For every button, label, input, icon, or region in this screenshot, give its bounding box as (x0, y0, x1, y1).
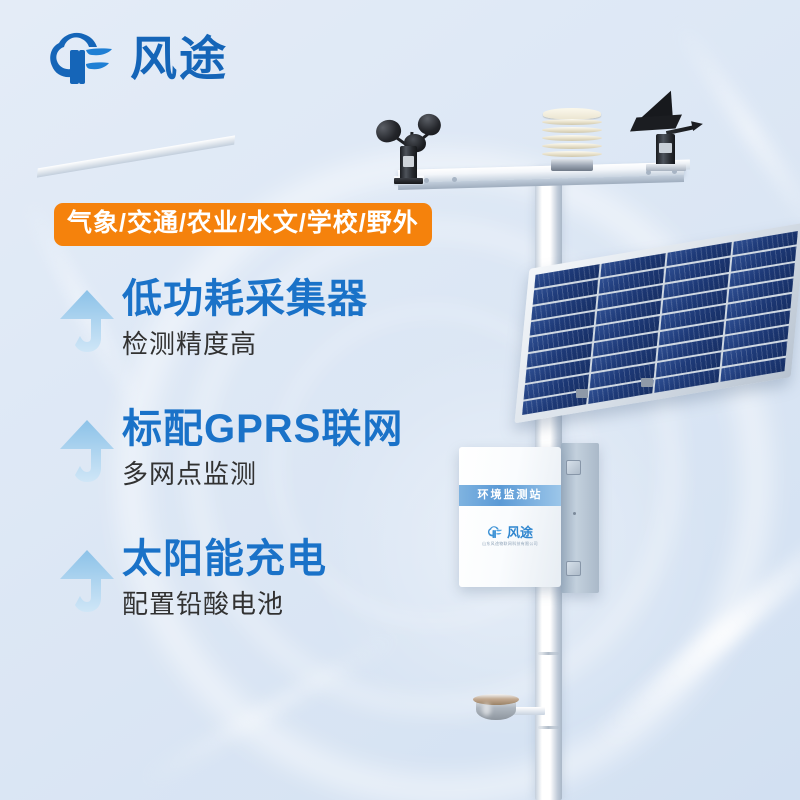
radiation-shield-sensor (539, 108, 605, 172)
enclosure-band-label: 环境监测站 (478, 490, 543, 501)
wind-vane-nose (691, 119, 704, 131)
weather-station-product-image: 环境监测站 风途 山东风途物联网科技有限公司 (0, 0, 800, 800)
anemometer-sensor (374, 104, 460, 182)
radiation-shield-plate (542, 127, 602, 133)
wind-vane-sensor (620, 92, 702, 174)
enclosure-logo: 风途 山东风途物联网科技有限公司 (459, 525, 561, 546)
solar-panel-cells (522, 231, 798, 415)
product-poster: 风途 气象/交通/农业/水文/学校/野外 低功耗采集器 检测精度高 (0, 0, 800, 800)
enclosure-logo-row: 风途 (459, 525, 561, 539)
solar-panel-bracket (576, 389, 588, 398)
enclosure-company-label: 山东风途物联网科技有限公司 (459, 542, 561, 546)
radiation-shield-foot (551, 159, 593, 171)
radiation-shield-cap (543, 108, 601, 119)
solar-panel-bracket (641, 378, 653, 387)
rain-gauge-rim (473, 694, 519, 705)
enclosure-latch (566, 561, 581, 576)
solar-panel-rail (37, 135, 235, 177)
rain-gauge-highlight (482, 703, 491, 716)
radiation-shield-plate (542, 143, 602, 149)
radiation-shield-plate (542, 135, 602, 141)
anemometer-label (403, 156, 414, 167)
enclosure-screw (573, 512, 576, 515)
wind-vane-base (646, 164, 686, 171)
enclosure-band: 环境监测站 (459, 485, 561, 506)
enclosure-box: 环境监测站 风途 山东风途物联网科技有限公司 (459, 447, 561, 587)
fengtu-cloud-logo-icon (487, 525, 504, 539)
anemometer-base (394, 178, 423, 184)
rain-gauge-sensor (473, 694, 519, 724)
enclosure-latch (566, 460, 581, 475)
mast-seam (538, 726, 559, 729)
mast-seam (538, 652, 559, 655)
radiation-shield-plate (542, 119, 602, 125)
enclosure-brand-label: 风途 (507, 526, 533, 539)
wind-vane-label (659, 143, 672, 153)
radiation-shield-plate (542, 151, 602, 157)
